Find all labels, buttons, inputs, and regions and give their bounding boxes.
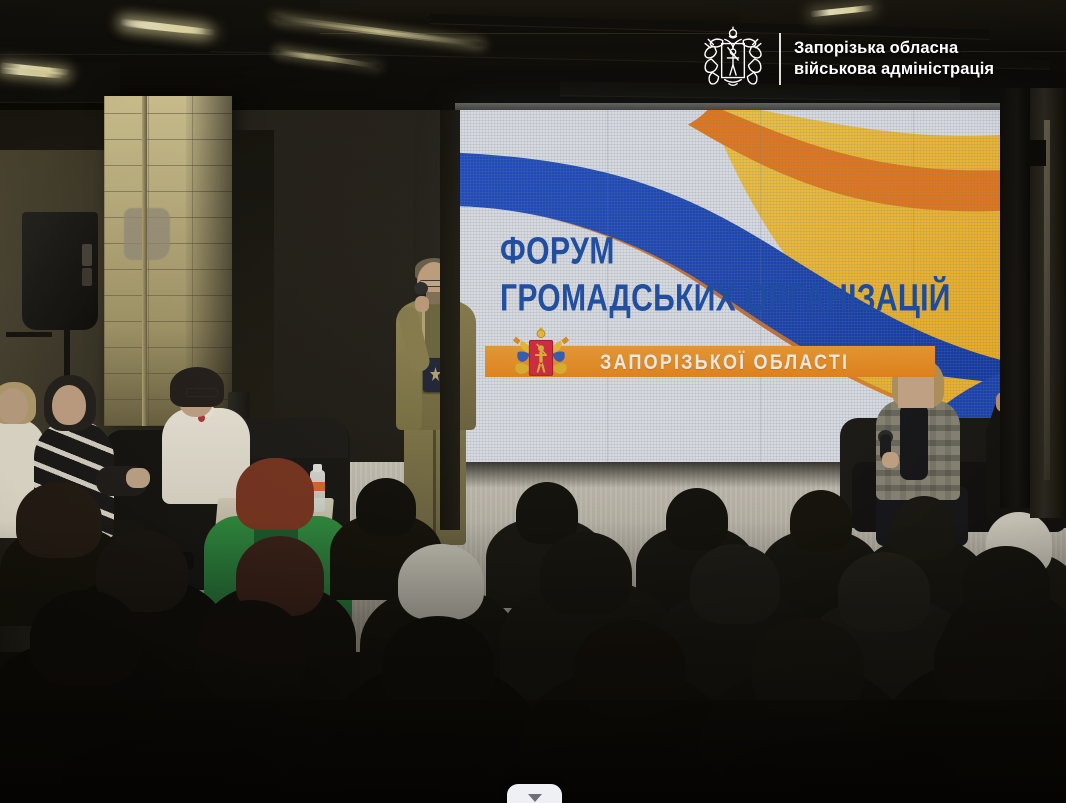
audience-head [838,552,930,632]
column-conduit [142,96,147,426]
scroll-down-button[interactable] [507,784,562,803]
audience-head [540,532,632,614]
audience-head [962,546,1050,624]
slide-subtitle: ЗАПОРІЗЬКОЇ ОБЛАСТІ [600,350,849,375]
audience-head [892,496,956,560]
pa-speaker-port [82,268,92,286]
audience-head [790,490,852,552]
panelist-hair [170,367,224,407]
audience-head [666,488,728,550]
glasses-icon [186,388,218,397]
photo-viewport: ФОРУМ ГРОМАДСЬКИХ ОРГАНІЗАЦІЙ ЗАПОРІЗЬКО… [0,0,1066,803]
audience-head [16,482,102,558]
speaker-stand-arm [6,332,52,337]
watermark-divider [779,33,781,85]
pillar-bracket [1028,140,1046,166]
watermark-line1: Запорізька обласна [794,38,994,59]
pa-speaker-port [82,244,92,266]
microphone-head-icon [414,282,428,295]
panelist-head [52,385,86,425]
coat-of-arms-zaporizhzhia-color-icon [510,325,572,387]
audience-head [382,616,494,712]
slide-title: ФОРУМ ГРОМАДСЬКИХ ОРГАНІЗАЦІЙ [500,232,965,312]
chevron-down-icon [528,794,542,802]
audience-head [356,478,416,536]
coat-of-arms-zaporizhzhia-icon [700,26,766,92]
screen-left-edge [440,110,460,530]
audience-head [398,544,484,620]
panelist-head [0,388,28,424]
watermark: Запорізька обласна військова адміністрац… [700,26,994,92]
audience-head [196,600,306,698]
slide-title-line2: ГРОМАДСЬКИХ ОРГАНІЗАЦІЙ [500,279,951,319]
wall-recess [232,130,274,430]
structural-pillar [1000,88,1030,508]
audience-head [934,612,1046,708]
audience-head [690,544,780,624]
presenter-hand [415,296,429,312]
column-patch [124,208,170,260]
pillar-light-edge [1044,120,1050,480]
audience-head [30,590,140,686]
slide-title-line1: ФОРУМ [500,232,951,272]
watermark-line2: військова адміністрація [794,59,994,80]
watermark-text: Запорізька обласна військова адміністрац… [794,38,994,80]
